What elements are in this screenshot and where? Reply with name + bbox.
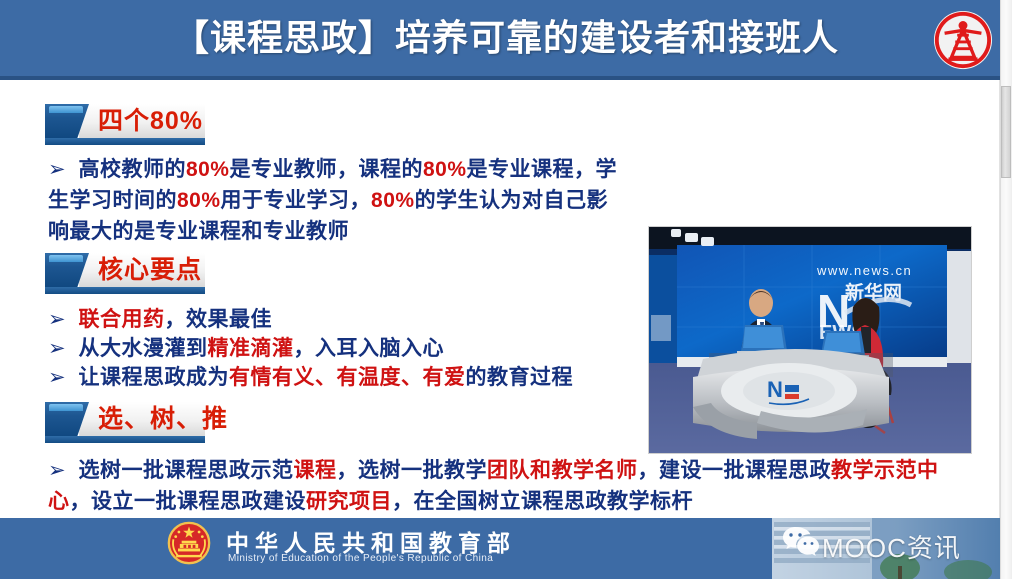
scrollbar-thumb[interactable] (1001, 86, 1011, 178)
page-title: 【课程思政】培养可靠的建设者和接班人 (0, 0, 1012, 76)
core-point-bullet-1: ➢ 联合用药，效果最佳 (48, 304, 628, 335)
banner-tab-highlight (49, 106, 83, 113)
slide-canvas: 【课程思政】培养可靠的建设者和接班人 四个80% ➢ 高校教师的80%是专业教师… (0, 0, 1012, 579)
news-studio-photo: www.news.cn N EWS 新华网 (648, 226, 972, 454)
section-1-paragraph: ➢ 高校教师的80%是专业教师，课程的80%是专业课程，学生学习时间的80%用于… (48, 154, 628, 247)
vertical-scrollbar[interactable] (1000, 0, 1012, 579)
svg-text:www.news.cn: www.news.cn (816, 263, 912, 278)
core-point-bullet-2: ➢ 从大水漫灌到精准滴灌，入耳入脑入心 (48, 333, 628, 364)
section-3-paragraph: ➢ 选树一批课程思政示范课程，选树一批教学团队和教学名师，建设一批课程思政教学示… (48, 455, 973, 517)
svg-text:N: N (767, 377, 783, 402)
section-banner-2-label: 核心要点 (98, 253, 202, 287)
ministry-name-en: Ministry of Education of the People's Re… (228, 553, 493, 564)
china-national-emblem-icon (167, 521, 211, 565)
mooc-watermark: MOOC资讯 (822, 528, 961, 565)
section-banner-3: 选、树、推 (45, 402, 205, 444)
banner-tab-highlight (49, 255, 83, 262)
slide-header: 【课程思政】培养可靠的建设者和接班人 (0, 0, 1012, 80)
slide-body: 四个80% ➢ 高校教师的80%是专业教师，课程的80%是专业课程，学生学习时间… (0, 80, 1000, 518)
section-banner-1-label: 四个80% (98, 104, 203, 138)
section-banner-3-label: 选、树、推 (98, 402, 228, 436)
core-point-bullet-3: ➢ 让课程思政成为有情有义、有温度、有爱的教育过程 (48, 362, 628, 393)
red-tower-emblem-icon (932, 9, 994, 71)
news-studio-illustration: www.news.cn N EWS 新华网 (649, 227, 972, 454)
banner-base (45, 287, 205, 294)
banner-base (45, 138, 205, 145)
banner-tab-highlight (49, 404, 83, 411)
banner-base (45, 436, 205, 443)
section-banner-2: 核心要点 (45, 253, 205, 295)
wechat-icon (780, 524, 822, 560)
section-banner-1: 四个80% (45, 104, 205, 146)
